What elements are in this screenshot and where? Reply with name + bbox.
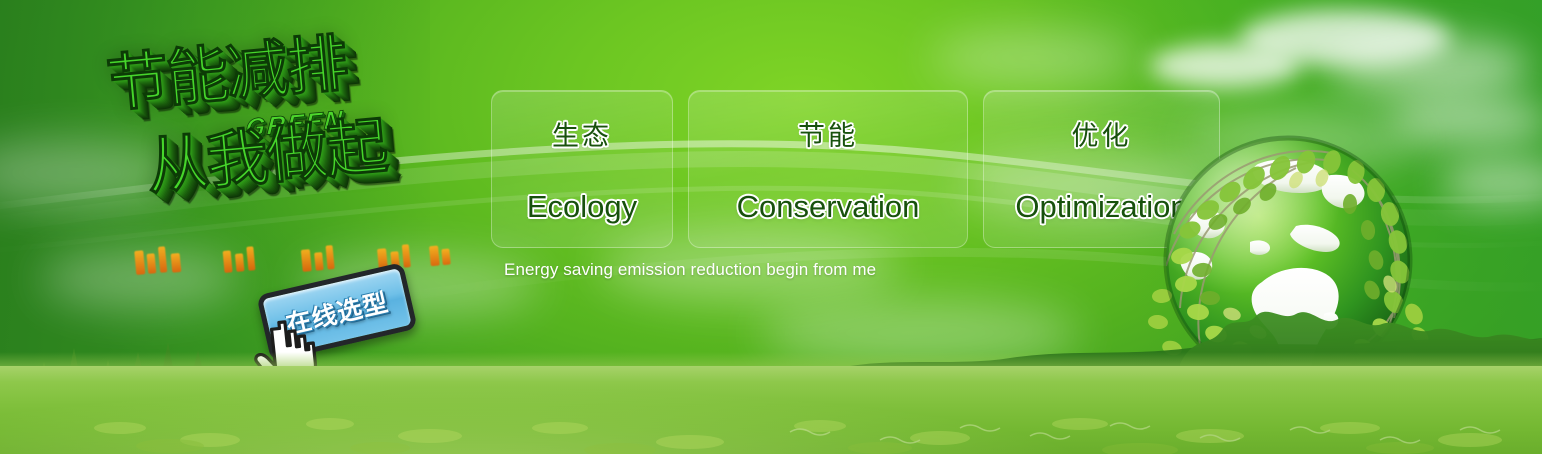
headline-3d-title: 节能减排 GREEN 从我做起 — [86, 20, 505, 285]
headline-line-2: 从我做起 — [144, 116, 389, 199]
feature-card-list: 生态 Ecology 节能 Conservation 优化 Optimizati… — [491, 90, 1220, 248]
cloud-shape — [1150, 44, 1300, 88]
cloud-shape — [930, 30, 1140, 86]
feature-card-cn-label: 优化 — [1072, 114, 1132, 153]
feature-card-conservation[interactable]: 节能 Conservation — [688, 90, 968, 248]
banner-tagline: Energy saving emission reduction begin f… — [504, 260, 876, 280]
eco-promo-banner: 节能减排 GREEN 从我做起 在线选型 生态 Ecology 节能 Conse… — [0, 0, 1542, 454]
cloud-shape — [1330, 36, 1530, 98]
feature-card-ecology[interactable]: 生态 Ecology — [491, 90, 673, 248]
feature-card-en-label: Conservation — [737, 189, 920, 225]
grass-texture — [0, 366, 1542, 454]
feature-card-en-label: Ecology — [527, 189, 637, 225]
feature-card-cn-label: 节能 — [798, 114, 858, 153]
feature-card-cn-label: 生态 — [552, 114, 612, 153]
